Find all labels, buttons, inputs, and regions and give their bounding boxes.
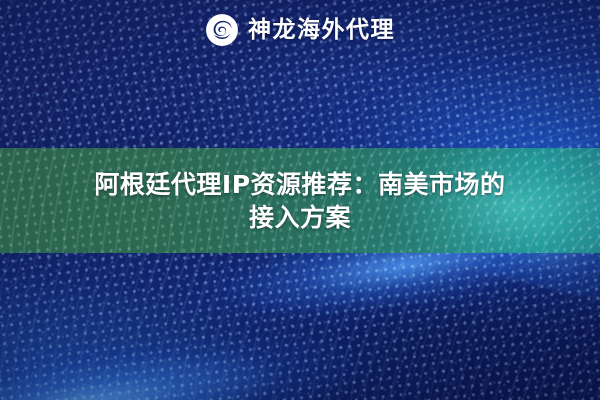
promo-banner: 神龙海外代理 阿根廷代理IP资源推荐：南美市场的 接入方案 — [0, 0, 600, 400]
banner-title: 阿根廷代理IP资源推荐：南美市场的 接入方案 — [0, 148, 600, 253]
banner-title-line1: 阿根廷代理IP资源推荐：南美市场的 — [94, 168, 505, 201]
banner-title-line2: 接入方案 — [249, 201, 351, 234]
swirl-logo-icon — [205, 13, 239, 47]
brand-name: 神龙海外代理 — [248, 19, 395, 42]
title-band: 阿根廷代理IP资源推荐：南美市场的 接入方案 — [0, 148, 600, 253]
brand-logo[interactable]: 神龙海外代理 — [0, 10, 600, 50]
